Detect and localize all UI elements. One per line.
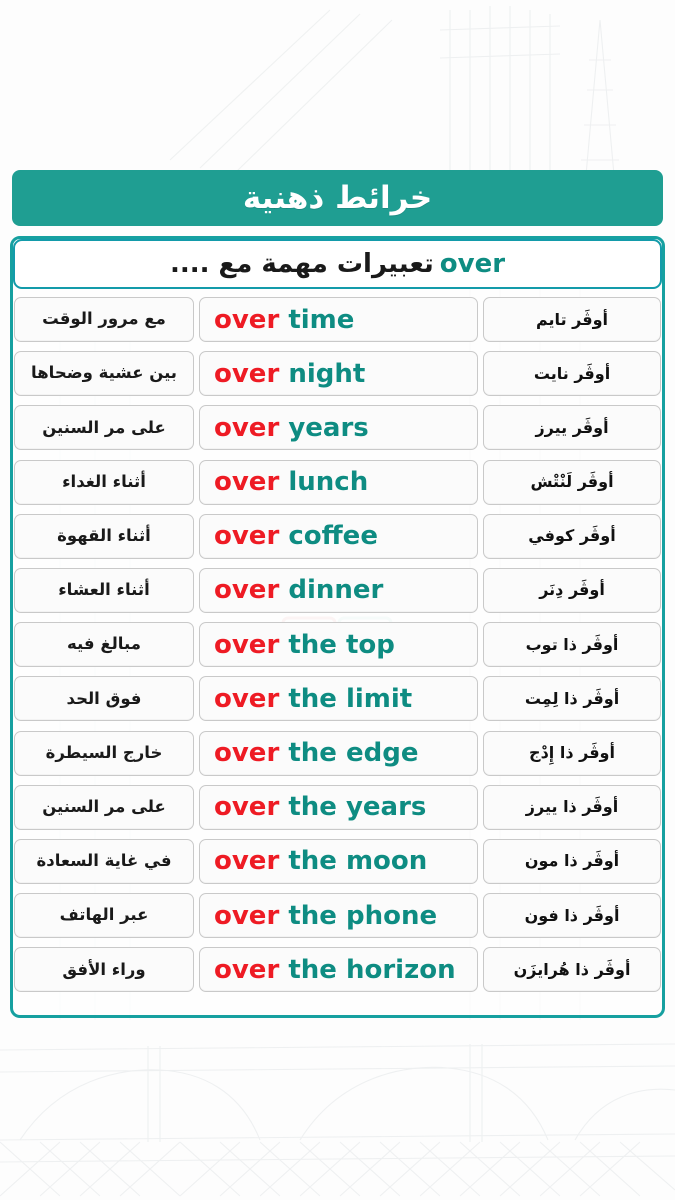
- cell-phrase: over time: [199, 297, 478, 342]
- cell-phrase: over years: [199, 405, 478, 450]
- transliteration-text: أوڤَر ذا مون: [525, 853, 619, 869]
- cell-phrase: over lunch: [199, 460, 478, 505]
- phrase-keyword: over: [214, 792, 279, 822]
- phrase-keyword: over: [214, 684, 279, 714]
- transliteration-text: أوڤَر لَنْتْش: [530, 474, 613, 490]
- transliteration-text: أوڤَر ذا توب: [526, 637, 619, 653]
- cell-phrase: over the limit: [199, 676, 478, 721]
- cell-meaning: عبر الهاتف: [14, 893, 194, 938]
- phrase-remainder: the edge: [288, 738, 418, 768]
- meaning-text: على مر السنين: [42, 799, 166, 816]
- cell-meaning: أثناء الغداء: [14, 460, 194, 505]
- phrase-text: over the edge: [214, 740, 418, 766]
- phrase-remainder: time: [288, 305, 354, 335]
- meaning-text: أثناء الغداء: [62, 474, 146, 491]
- phrase-keyword: over: [214, 521, 279, 551]
- phrase-remainder: the moon: [288, 846, 427, 876]
- cell-transliteration: أوڤَر ذا ييرز: [483, 785, 661, 830]
- cell-phrase: over dinner: [199, 568, 478, 613]
- table-row: أوڤَر ذا إِدْجover the edgeخارج السيطرة: [14, 731, 661, 776]
- phrase-keyword: over: [214, 359, 279, 389]
- cell-transliteration: أوڤَر نايت: [483, 351, 661, 396]
- cell-meaning: في غاية السعادة: [14, 839, 194, 884]
- page-title: خرائط ذهنية: [243, 183, 432, 214]
- cell-phrase: over the phone: [199, 893, 478, 938]
- meaning-text: وراء الأفق: [62, 962, 145, 979]
- table-row: أوڤَر ذا ييرزover the yearsعلى مر السنين: [14, 785, 661, 830]
- cell-phrase: over the horizon: [199, 947, 478, 992]
- transliteration-text: أوڤَر تايم: [536, 312, 608, 328]
- phrase-remainder: dinner: [288, 575, 383, 605]
- phrase-keyword: over: [214, 846, 279, 876]
- meaning-text: عبر الهاتف: [60, 907, 149, 924]
- cell-meaning: بين عشية وضحاها: [14, 351, 194, 396]
- cell-meaning: فوق الحد: [14, 676, 194, 721]
- cell-meaning: وراء الأفق: [14, 947, 194, 992]
- phrase-remainder: the years: [288, 792, 426, 822]
- phrase-keyword: over: [214, 738, 279, 768]
- table-row: أوڤَر لَنْتْشover lunchأثناء الغداء: [14, 460, 661, 505]
- meaning-text: مبالغ فيه: [67, 636, 141, 653]
- transliteration-text: أوڤَر كوفي: [528, 528, 615, 544]
- cell-transliteration: أوڤَر دِنَر: [483, 568, 661, 613]
- mindmap-card: خرائط ذهنية over تعبيرات مهمة مع .... أو…: [0, 0, 675, 1200]
- meaning-text: أثناء العشاء: [58, 582, 150, 599]
- phrase-keyword: over: [214, 467, 279, 497]
- phrase-keyword: over: [214, 575, 279, 605]
- subtitle-box: over تعبيرات مهمة مع ....: [13, 239, 662, 289]
- transliteration-text: أوڤَر نايت: [534, 366, 610, 382]
- table-row: أوڤَر كوفيover coffeeأثناء القهوة: [14, 514, 661, 559]
- table-row: أوڤَر ذا توبover the topمبالغ فيه: [14, 622, 661, 667]
- phrase-keyword: over: [214, 901, 279, 931]
- table-row: أوڤَر ذا مونover the moonفي غاية السعادة: [14, 839, 661, 884]
- cell-transliteration: أوڤَر ييرز: [483, 405, 661, 450]
- phrase-text: over dinner: [214, 577, 383, 603]
- table-row: أوڤَر تايمover timeمع مرور الوقت: [14, 297, 661, 342]
- phrase-remainder: night: [288, 359, 365, 389]
- cell-phrase: over the top: [199, 622, 478, 667]
- table-row: أوڤَر نايتover nightبين عشية وضحاها: [14, 351, 661, 396]
- phrase-remainder: the limit: [288, 684, 412, 714]
- phrase-remainder: coffee: [288, 521, 378, 551]
- cell-meaning: مبالغ فيه: [14, 622, 194, 667]
- cell-meaning: خارج السيطرة: [14, 731, 194, 776]
- table-row: أوڤَر دِنَرover dinnerأثناء العشاء: [14, 568, 661, 613]
- transliteration-text: أوڤَر ذا فون: [525, 908, 620, 924]
- cell-meaning: على مر السنين: [14, 785, 194, 830]
- phrase-text: over coffee: [214, 523, 378, 549]
- cell-transliteration: أوڤَر ذا فون: [483, 893, 661, 938]
- cell-transliteration: أوڤَر ذا لِمِت: [483, 676, 661, 721]
- table-row: أوڤَر ذا لِمِتover the limitفوق الحد: [14, 676, 661, 721]
- cell-transliteration: أوڤَر ذا مون: [483, 839, 661, 884]
- phrase-text: over the horizon: [214, 957, 456, 983]
- meaning-text: مع مرور الوقت: [42, 311, 166, 328]
- transliteration-text: أوڤَر ذا لِمِت: [525, 691, 619, 707]
- phrase-text: over the limit: [214, 686, 412, 712]
- transliteration-text: أوڤَر ذا إِدْج: [529, 745, 615, 761]
- transliteration-text: أوڤَر ذا هُرايزَن: [514, 962, 631, 978]
- meaning-text: بين عشية وضحاها: [31, 365, 177, 382]
- transliteration-text: أوڤَر ييرز: [535, 420, 608, 436]
- cell-transliteration: أوڤَر تايم: [483, 297, 661, 342]
- table-row: أوڤَر ييرزover yearsعلى مر السنين: [14, 405, 661, 450]
- cell-transliteration: أوڤَر ذا إِدْج: [483, 731, 661, 776]
- phrase-text: over lunch: [214, 469, 368, 495]
- transliteration-text: أوڤَر دِنَر: [539, 582, 605, 598]
- cell-meaning: مع مرور الوقت: [14, 297, 194, 342]
- phrase-remainder: lunch: [288, 467, 368, 497]
- cell-phrase: over night: [199, 351, 478, 396]
- meaning-text: على مر السنين: [42, 420, 166, 437]
- phrase-remainder: the horizon: [288, 955, 455, 985]
- phrase-remainder: the top: [288, 630, 395, 660]
- phrase-text: over years: [214, 415, 369, 441]
- cell-transliteration: أوڤَر ذا هُرايزَن: [483, 947, 661, 992]
- phrase-text: over time: [214, 307, 354, 333]
- expression-list: أوڤَر تايمover timeمع مرور الوقتأوڤَر نا…: [14, 297, 661, 1001]
- cell-phrase: over coffee: [199, 514, 478, 559]
- banner: خرائط ذهنية: [12, 170, 663, 226]
- meaning-text: خارج السيطرة: [46, 745, 163, 762]
- phrase-text: over the phone: [214, 903, 437, 929]
- cell-phrase: over the moon: [199, 839, 478, 884]
- phrase-text: over the moon: [214, 848, 427, 874]
- cell-transliteration: أوڤَر ذا توب: [483, 622, 661, 667]
- cell-transliteration: أوڤَر لَنْتْش: [483, 460, 661, 505]
- meaning-text: في غاية السعادة: [37, 853, 172, 870]
- cell-phrase: over the edge: [199, 731, 478, 776]
- meaning-text: أثناء القهوة: [57, 528, 151, 545]
- cell-transliteration: أوڤَر كوفي: [483, 514, 661, 559]
- cell-meaning: أثناء القهوة: [14, 514, 194, 559]
- meaning-text: فوق الحد: [67, 691, 142, 708]
- subtitle-keyword: over: [440, 251, 505, 277]
- phrase-remainder: the phone: [288, 901, 437, 931]
- phrase-keyword: over: [214, 305, 279, 335]
- phrase-text: over night: [214, 361, 365, 387]
- cell-meaning: على مر السنين: [14, 405, 194, 450]
- phrase-remainder: years: [288, 413, 368, 443]
- phrase-keyword: over: [214, 630, 279, 660]
- table-row: أوڤَر ذا فونover the phoneعبر الهاتف: [14, 893, 661, 938]
- cell-phrase: over the years: [199, 785, 478, 830]
- table-row: أوڤَر ذا هُرايزَنover the horizonوراء ال…: [14, 947, 661, 992]
- phrase-text: over the top: [214, 632, 395, 658]
- phrase-keyword: over: [214, 413, 279, 443]
- subtitle-arabic: تعبيرات مهمة مع ....: [170, 251, 434, 277]
- transliteration-text: أوڤَر ذا ييرز: [526, 799, 618, 815]
- phrase-text: over the years: [214, 794, 426, 820]
- cell-meaning: أثناء العشاء: [14, 568, 194, 613]
- phrase-keyword: over: [214, 955, 279, 985]
